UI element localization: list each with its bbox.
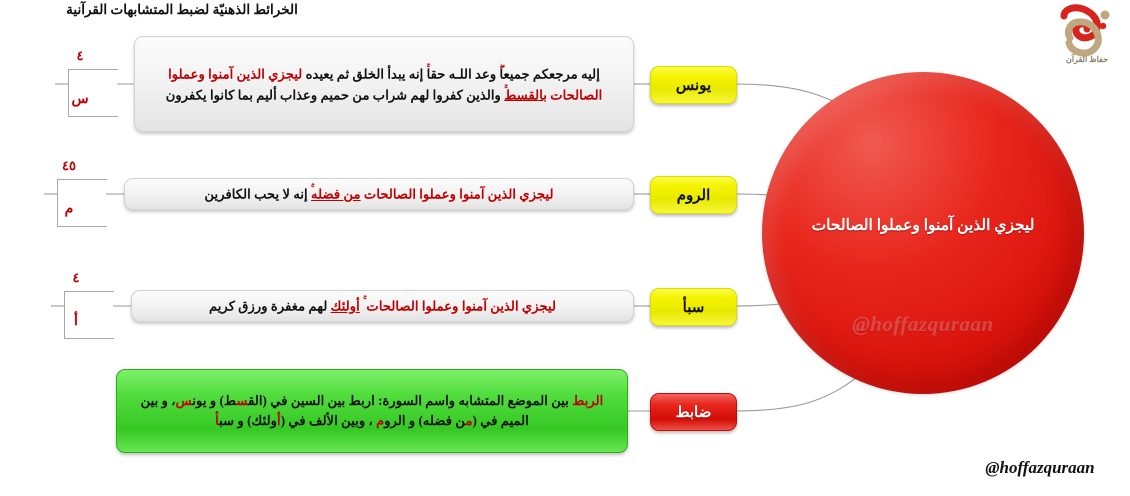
surah-node-dabit[interactable]: ضابط: [650, 393, 737, 431]
central-node[interactable]: ليجزي الذين آمنوا وعملوا الصالحات @hoffa…: [762, 72, 1084, 394]
mindmap-canvas: الخرائط الذهنيّة لضبط المتشابهات القرآني…: [0, 0, 1130, 496]
index-number-1: ٤: [60, 48, 100, 64]
surah-node-ar-rum[interactable]: الروم: [650, 176, 737, 214]
index-letter-2: م: [49, 201, 89, 218]
author-handle: @hoffazquraan: [958, 458, 1122, 478]
hub-watermark: @hoffazquraan: [762, 312, 1084, 337]
index-letter-1: س: [60, 91, 100, 108]
logo-caption: حفاظ القرآن: [1048, 55, 1126, 64]
rule-box[interactable]: الربط بين الموضع المتشابه واسم السورة: ا…: [116, 369, 628, 453]
index-number-3: ٤: [56, 270, 96, 286]
surah-node-label: سبأ: [683, 298, 705, 317]
verse-text-2: ليجزي الذين آمنوا وعملوا الصالحات من فضل…: [205, 183, 554, 204]
central-node-label: ليجزي الذين آمنوا وعملوا الصالحات: [762, 216, 1084, 235]
verse-box-3[interactable]: ليجزي الذين آمنوا وعملوا الصالحات ۚ أولئ…: [131, 290, 634, 322]
surah-node-label: يونس: [676, 76, 711, 95]
verse-text-1: إليه مرجعكم جميعاۖ وعد اللـه حقاۚ إنه يب…: [145, 63, 623, 106]
rule-node-label: ضابط: [676, 403, 712, 422]
surah-node-saba[interactable]: سبأ: [650, 288, 737, 326]
surah-node-label: الروم: [677, 186, 711, 205]
surah-node-yunus[interactable]: يونس: [650, 66, 737, 104]
verse-text-3: ليجزي الذين آمنوا وعملوا الصالحات ۚ أولئ…: [209, 295, 556, 316]
rule-text: الربط بين الموضع المتشابه واسم السورة: ا…: [129, 391, 615, 432]
verse-box-2[interactable]: ليجزي الذين آمنوا وعملوا الصالحات من فضل…: [124, 178, 634, 210]
index-number-2: ٤٥: [49, 158, 89, 174]
index-letter-3: أ: [56, 313, 96, 330]
verse-box-1[interactable]: إليه مرجعكم جميعاۖ وعد اللـه حقاۚ إنه يب…: [134, 36, 634, 132]
